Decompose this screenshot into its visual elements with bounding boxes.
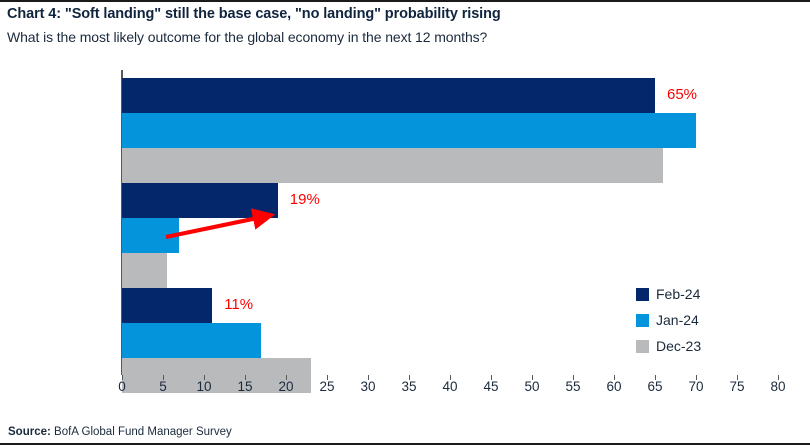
x-axis-tick-label: 45 xyxy=(483,379,498,394)
legend-swatch-icon xyxy=(636,340,649,353)
x-axis-tick-label: 15 xyxy=(237,379,252,394)
legend-label: Jan-24 xyxy=(656,312,699,328)
bar-soft-landing-feb-24 xyxy=(122,78,655,113)
source-text: BofA Global Fund Manager Survey xyxy=(51,426,232,438)
page-title: Chart 4: "Soft landing" still the base c… xyxy=(7,6,501,22)
data-label-no-landing: 19% xyxy=(290,191,320,208)
bottom-divider xyxy=(0,443,810,445)
bar-no-landing-jan-24 xyxy=(122,218,179,253)
bar-soft-landing-jan-24 xyxy=(122,113,696,148)
data-label-soft-landing: 65% xyxy=(667,86,697,103)
bar-no-landing-dec-23 xyxy=(122,253,167,288)
x-axis-tick-label: 65 xyxy=(647,379,662,394)
x-axis-tick-label: 40 xyxy=(442,379,457,394)
x-axis-tick-label: 55 xyxy=(565,379,580,394)
legend-item-jan-24[interactable]: Jan-24 xyxy=(636,307,701,333)
x-axis-tick-label: 20 xyxy=(278,379,293,394)
chart-page: Chart 4: "Soft landing" still the base c… xyxy=(0,0,810,448)
bar-no-landing-feb-24 xyxy=(122,183,278,218)
legend-label: Feb-24 xyxy=(656,286,700,302)
x-axis-tick-label: 5 xyxy=(159,379,167,394)
legend-swatch-icon xyxy=(636,314,649,327)
legend-item-dec-23[interactable]: Dec-23 xyxy=(636,333,701,359)
source-label: Source: xyxy=(8,426,51,438)
x-axis-tick-label: 80 xyxy=(770,379,785,394)
bar-soft-landing-dec-23 xyxy=(122,148,663,183)
x-axis-tick-label: 70 xyxy=(688,379,703,394)
source-note: Source: BofA Global Fund Manager Survey xyxy=(8,426,232,438)
legend-swatch-icon xyxy=(636,288,649,301)
chart-subtitle: What is the most likely outcome for the … xyxy=(7,29,487,45)
legend-label: Dec-23 xyxy=(656,338,701,354)
bar-hard-landing-feb-24 xyxy=(122,288,212,323)
x-axis-tick-label: 0 xyxy=(118,379,126,394)
x-axis-tick-label: 25 xyxy=(319,379,334,394)
top-divider xyxy=(0,0,810,2)
x-axis-tick-label: 50 xyxy=(524,379,539,394)
x-axis-tick-label: 75 xyxy=(729,379,744,394)
data-label-hard-landing: 11% xyxy=(224,296,253,313)
x-axis-tick-label: 60 xyxy=(606,379,621,394)
chart-legend: Feb-24Jan-24Dec-23 xyxy=(636,281,701,359)
x-axis-tick-label: 10 xyxy=(196,379,211,394)
legend-item-feb-24[interactable]: Feb-24 xyxy=(636,281,701,307)
bar-hard-landing-jan-24 xyxy=(122,323,261,358)
x-axis-tick-label: 30 xyxy=(360,379,375,394)
x-axis-tick-label: 35 xyxy=(401,379,416,394)
